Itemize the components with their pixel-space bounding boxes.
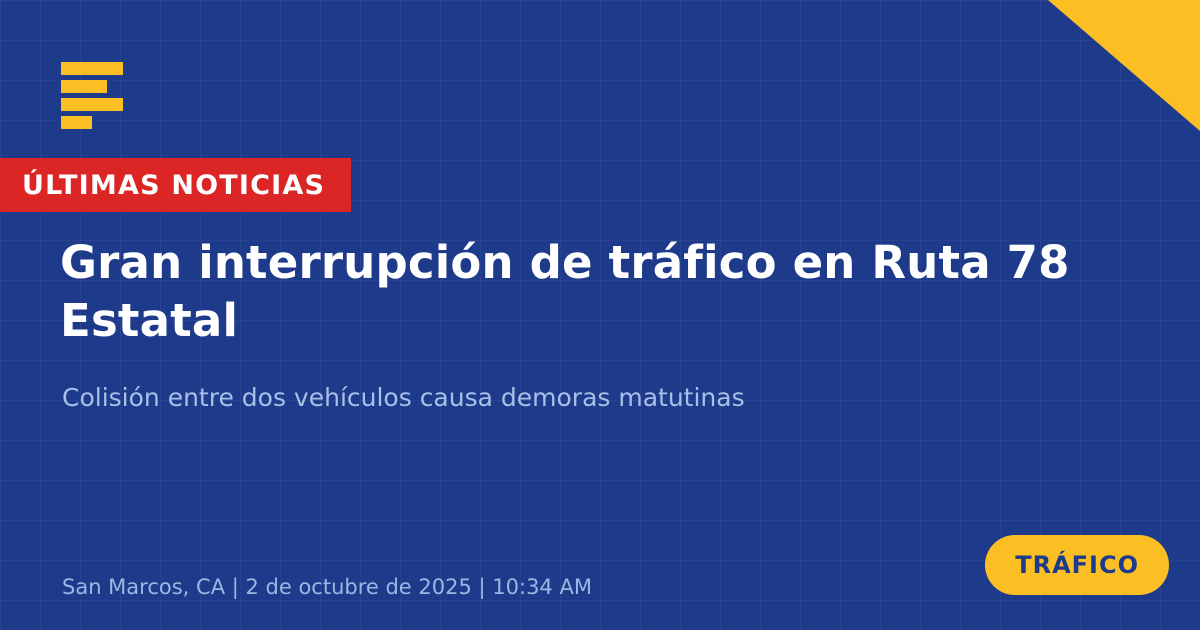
logo-bar-4 [61, 116, 92, 129]
corner-accent-triangle [1048, 0, 1200, 131]
category-badge: TRÁFICO [985, 535, 1169, 595]
breaking-news-banner: ÚLTIMAS NOTICIAS [0, 158, 351, 212]
logo-bar-1 [61, 62, 123, 75]
category-badge-label: TRÁFICO [1015, 553, 1139, 577]
logo-bar-3 [61, 98, 123, 111]
brand-logo [61, 62, 123, 129]
logo-bar-2 [61, 80, 107, 93]
breaking-news-card: ÚLTIMAS NOTICIAS Gran interrupción de tr… [0, 0, 1200, 630]
breaking-news-label: ÚLTIMAS NOTICIAS [22, 172, 325, 199]
page-title: Gran interrupción de tráfico en Ruta 78 … [60, 234, 1170, 349]
article-subtitle: Colisión entre dos vehículos causa demor… [62, 382, 1062, 415]
article-meta-line: San Marcos, CA | 2 de octubre de 2025 | … [62, 575, 592, 600]
